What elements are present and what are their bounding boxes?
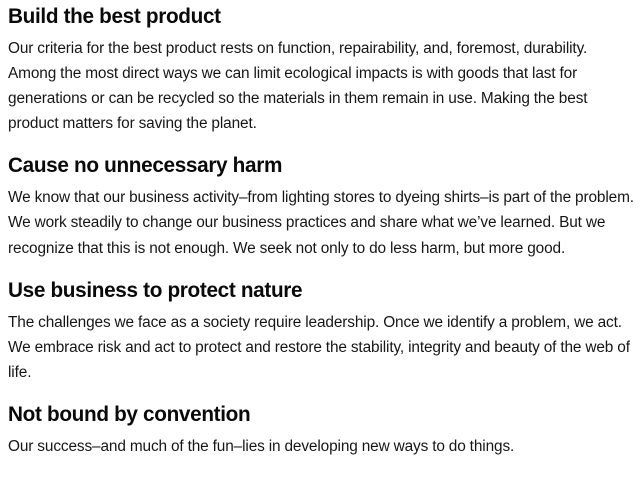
section-heading: Build the best product [8, 3, 614, 30]
section-not-bound-by-convention: Not bound by convention Our success–and … [8, 401, 636, 459]
section-use-business-to-protect-nature: Use business to protect nature The chall… [8, 277, 636, 385]
section-body-text: Our success–and much of the fun–lies in … [8, 434, 636, 459]
section-build-the-best-product: Build the best product Our criteria for … [8, 3, 636, 136]
section-body-text: Our criteria for the best product rests … [8, 36, 636, 136]
section-heading: Not bound by convention [8, 401, 614, 428]
section-body-text: The challenges we face as a society requ… [8, 310, 636, 385]
section-cause-no-unnecessary-harm: Cause no unnecessary harm We know that o… [8, 152, 636, 260]
section-heading: Cause no unnecessary harm [8, 152, 614, 179]
section-body-text: We know that our business activity–from … [8, 185, 636, 260]
document-page: Build the best product Our criteria for … [0, 0, 640, 497]
section-heading: Use business to protect nature [8, 277, 614, 304]
